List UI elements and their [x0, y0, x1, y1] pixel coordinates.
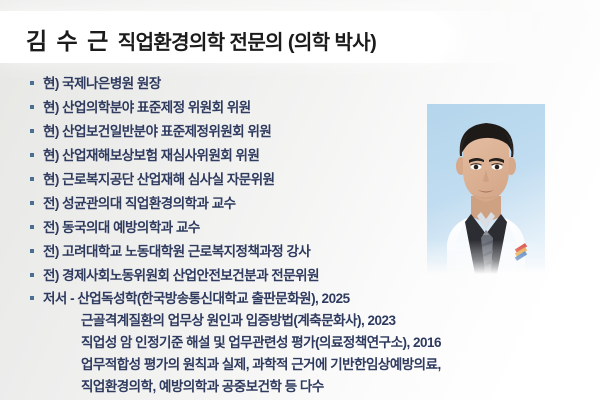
list-item: 현) 산업의학분야 표준제정 위원회 위원	[30, 96, 450, 120]
bullet-icon	[30, 81, 34, 85]
list-item: 저서 - 산업독성학(한국방송통신대학교 출판문화원), 2025	[30, 288, 590, 310]
list-item-label: 현) 근로복지공단 산업재해 심사실 자문위원	[43, 168, 275, 192]
bullet-icon	[30, 129, 34, 133]
list-item: 전) 경제사회노동위원회 산업안전보건분과 전문위원	[30, 264, 450, 288]
credentials-list: 현) 국제나은병원 원장 현) 산업의학분야 표준제정 위원회 위원 현) 산업…	[30, 72, 450, 288]
list-item-label: 현) 산업보건일반분야 표준제정위원회 위원	[43, 120, 271, 144]
list-item-label: 전) 고려대학교 노동대학원 근로복지정책과정 강사	[43, 240, 310, 264]
list-item: 전) 성균관의대 직업환경의학과 교수	[30, 192, 450, 216]
list-item-label: 현) 산업재해보상보험 재심사위원회 위원	[43, 144, 259, 168]
publication-first-line: 저서 - 산업독성학(한국방송통신대학교 출판문화원), 2025	[43, 288, 350, 310]
bullet-icon	[30, 201, 34, 205]
bullet-icon	[30, 177, 34, 181]
bullet-icon	[30, 273, 34, 277]
list-item-label: 현) 산업의학분야 표준제정 위원회 위원	[43, 96, 251, 120]
list-item: 전) 고려대학교 노동대학원 근로복지정책과정 강사	[30, 240, 450, 264]
list-item: 전) 동국의대 예방의학과 교수	[30, 216, 450, 240]
title-qualification: 직업환경의학 전문의 (의학 박사)	[118, 32, 376, 54]
page-title: 김 수 근직업환경의학 전문의 (의학 박사)	[26, 22, 376, 56]
list-item: 현) 산업재해보상보험 재심사위원회 위원	[30, 144, 450, 168]
publication-line: 직업성 암 인정기준 해설 및 업무관련성 평가(의료정책연구소), 2016	[81, 332, 590, 354]
profile-photo	[427, 104, 545, 274]
bullet-icon	[30, 225, 34, 229]
list-item-label: 전) 경제사회노동위원회 산업안전보건분과 전문위원	[43, 264, 319, 288]
avatar	[427, 104, 545, 274]
bullet-icon	[30, 105, 34, 109]
publication-line: 업무적합성 평가의 원칙과 실제, 과학적 근거에 기반한임상예방의료,	[81, 354, 590, 376]
bullet-icon	[30, 153, 34, 157]
publications-list: 저서 - 산업독성학(한국방송통신대학교 출판문화원), 2025 근골격계질환…	[30, 288, 590, 398]
title-name: 김 수 근	[26, 28, 110, 54]
publication-line: 직업환경의학, 예방의학과 공중보건학 등 다수	[81, 376, 590, 398]
bullet-icon	[30, 249, 34, 253]
list-item-label: 현) 국제나은병원 원장	[43, 72, 161, 96]
bullet-icon	[30, 296, 34, 300]
list-item: 현) 산업보건일반분야 표준제정위원회 위원	[30, 120, 450, 144]
list-item-label: 전) 동국의대 예방의학과 교수	[43, 216, 200, 240]
list-item: 현) 근로복지공단 산업재해 심사실 자문위원	[30, 168, 450, 192]
list-item: 현) 국제나은병원 원장	[30, 72, 450, 96]
slide-root: 김 수 근직업환경의학 전문의 (의학 박사)	[0, 0, 600, 400]
publication-line: 근골격계질환의 업무상 원인과 입증방법(계축문화사), 2023	[81, 310, 590, 332]
list-item-label: 전) 성균관의대 직업환경의학과 교수	[43, 192, 236, 216]
